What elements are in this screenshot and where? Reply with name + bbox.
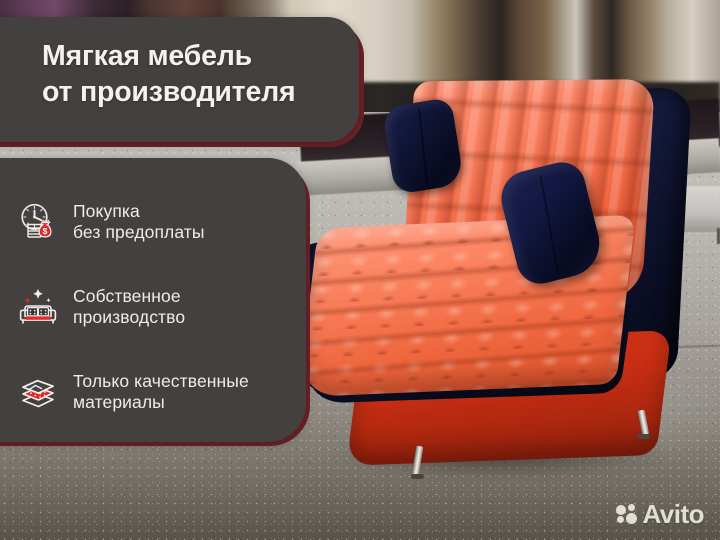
- feature-label: Только качественные материалы: [73, 371, 249, 413]
- header-banner: Мягкая мебель от производителя: [0, 17, 359, 142]
- sofa-navy-pillow-left: [382, 97, 465, 195]
- feature-label: Собственное производство: [73, 286, 185, 328]
- avito-watermark: Avito: [616, 501, 704, 527]
- feature-item-own-production: Собственное производство: [16, 276, 306, 338]
- avito-brand-text: Avito: [642, 501, 704, 527]
- page-title: Мягкая мебель от производителя: [42, 38, 295, 110]
- feature-item-prepayment: $ Покупка без предоплаты: [16, 191, 306, 253]
- svg-text:$: $: [43, 226, 48, 236]
- features-panel: $ Покупка без предоплаты: [0, 158, 306, 442]
- feature-item-quality-materials: Только качественные материалы: [16, 361, 306, 423]
- fabric-layers-icon: [16, 370, 60, 414]
- clock-money-bag-icon: $: [16, 200, 60, 244]
- avito-dots-logo-icon: [616, 504, 637, 524]
- sofa-sparkle-icon: [16, 285, 60, 329]
- sofa-leg-foot: [411, 474, 424, 479]
- sofa-product: [292, 80, 720, 500]
- sofa-leg-foot: [637, 434, 650, 439]
- feature-label: Покупка без предоплаты: [73, 201, 205, 243]
